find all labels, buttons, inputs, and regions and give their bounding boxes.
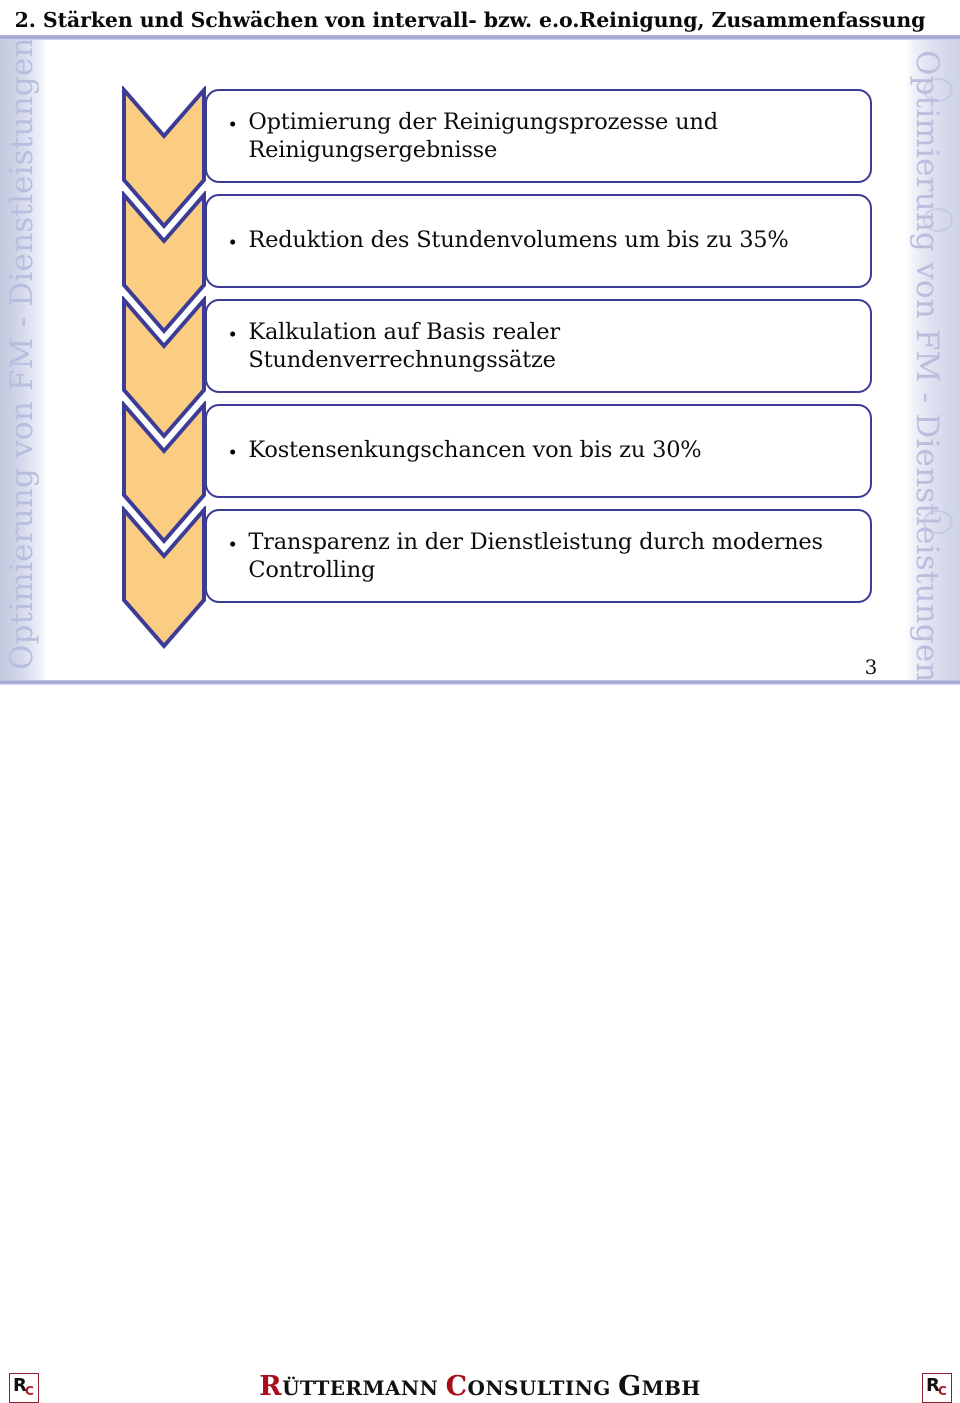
banner-ring-decor: [923, 78, 953, 102]
list-item[interactable]: • Transparenz in der Dienstleistung durc…: [122, 506, 872, 618]
chevron-list-diagram: • Optimierung der Reinigungsprozesse und…: [46, 40, 905, 680]
list-item[interactable]: • Optimierung der Reinigungsprozesse und…: [122, 86, 872, 198]
bullet-icon: •: [229, 109, 236, 139]
slide: 2. Stärken und Schwächen von intervall- …: [0, 0, 960, 720]
footer-company-r: R: [259, 1371, 282, 1402]
list-item-box[interactable]: • Kalkulation auf Basis realer Stundenve…: [205, 299, 872, 393]
banner-ring-decor: [923, 208, 953, 232]
bullet-line: • Kostensenkungschancen von bis zu 30%: [207, 436, 716, 467]
list-item-box[interactable]: • Reduktion des Stundenvolumens um bis z…: [205, 194, 872, 288]
company-logo-right: R C: [922, 1373, 952, 1403]
page-number: 3: [856, 655, 886, 679]
chevron-down-icon: [122, 506, 206, 650]
list-item-label: Optimierung der Reinigungsprozesse und R…: [248, 108, 856, 164]
list-item[interactable]: • Reduktion des Stundenvolumens um bis z…: [122, 191, 872, 303]
right-side-banner: Optimierung von FM - Dienstleistungen: [905, 40, 960, 680]
slide-content: • Optimierung der Reinigungsprozesse und…: [46, 40, 905, 680]
bullet-icon: •: [229, 529, 236, 559]
bullet-line: • Reduktion des Stundenvolumens um bis z…: [207, 226, 803, 257]
footer-company-c: C: [446, 1371, 468, 1402]
right-side-banner-label: Optimierung von FM - Dienstleistungen: [909, 50, 945, 680]
list-item[interactable]: • Kalkulation auf Basis realer Stundenve…: [122, 296, 872, 408]
list-item-label: Transparenz in der Dienstleistung durch …: [248, 528, 856, 584]
page-title: 2. Stärken und Schwächen von intervall- …: [0, 6, 940, 36]
footer-company-mbh: MBH: [642, 1376, 701, 1400]
bullet-line: • Transparenz in der Dienstleistung durc…: [207, 528, 870, 584]
footer-company-uettermann: ÜTTERMANN: [282, 1376, 446, 1400]
list-item-box[interactable]: • Kostensenkungschancen von bis zu 30%: [205, 404, 872, 498]
left-side-banner: Optimierung von FM - Dienstleistungen: [0, 40, 46, 680]
footer-company-onsulting: ONSULTING: [468, 1376, 619, 1400]
logo-letter-c: C: [938, 1384, 947, 1398]
list-item-label: Kostensenkungschancen von bis zu 30%: [248, 436, 701, 464]
bullet-line: • Kalkulation auf Basis realer Stundenve…: [207, 318, 870, 374]
footer-company-name: RÜTTERMANN CONSULTING GMBH: [0, 1371, 960, 1402]
bullet-icon: •: [229, 319, 236, 349]
bullet-line: • Optimierung der Reinigungsprozesse und…: [207, 108, 870, 164]
list-item-label: Kalkulation auf Basis realer Stundenverr…: [248, 318, 856, 374]
list-item[interactable]: • Kostensenkungschancen von bis zu 30%: [122, 401, 872, 513]
banner-ring-decor: [923, 510, 953, 534]
bullet-icon: •: [229, 227, 236, 257]
list-item-box[interactable]: • Transparenz in der Dienstleistung durc…: [205, 509, 872, 603]
company-logo-left: R C: [9, 1373, 39, 1403]
logo-letter-c: C: [25, 1384, 34, 1398]
list-item-box[interactable]: • Optimierung der Reinigungsprozesse und…: [205, 89, 872, 183]
left-side-banner-label: Optimierung von FM - Dienstleistungen: [4, 40, 40, 670]
bullet-icon: •: [229, 437, 236, 467]
footer: RÜTTERMANN CONSULTING GMBH R C R C: [0, 685, 960, 720]
list-item-label: Reduktion des Stundenvolumens um bis zu …: [248, 226, 788, 254]
footer-company-g: G: [618, 1371, 641, 1402]
